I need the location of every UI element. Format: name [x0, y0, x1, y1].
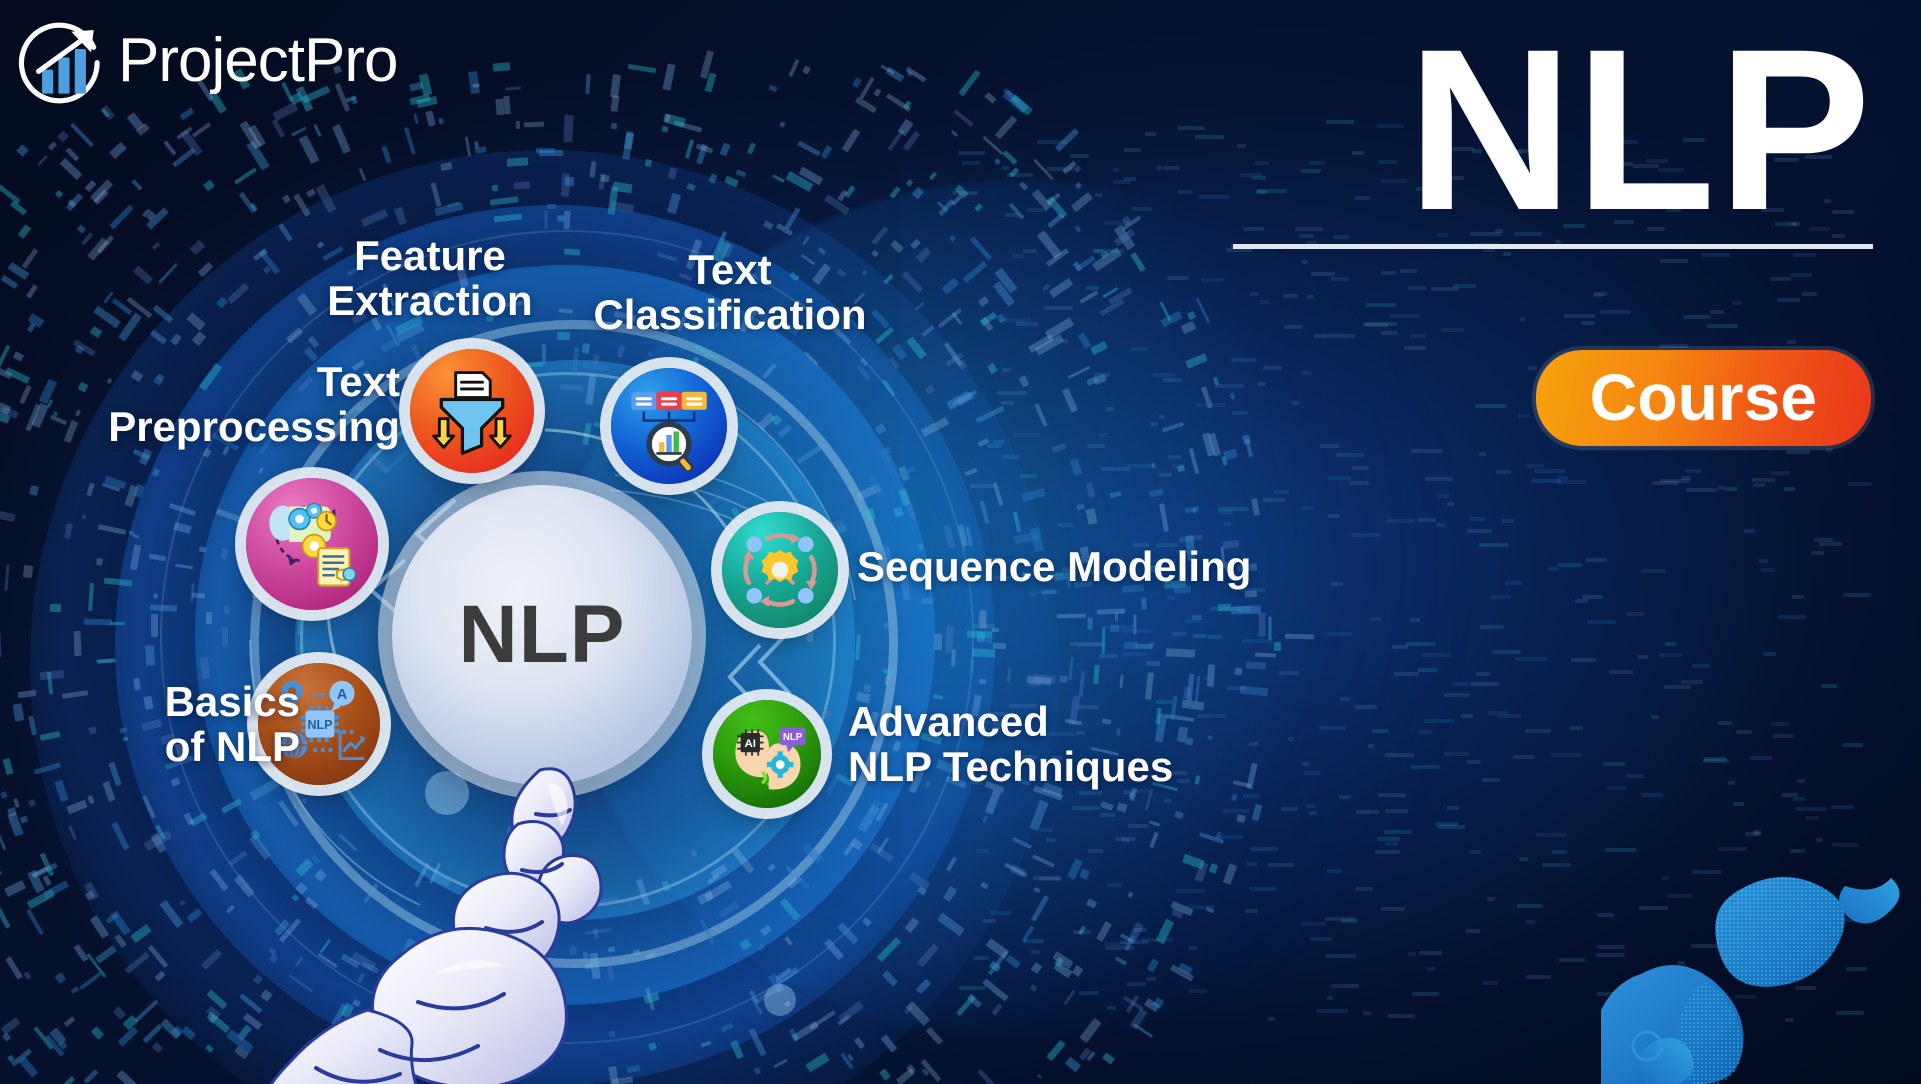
- course-badge-label: Course: [1590, 360, 1817, 436]
- nlp-hub-label: NLP: [459, 588, 626, 682]
- node-advanced-nlp-techniques[interactable]: AI: [713, 700, 821, 808]
- label-text-preprocessing: Text Preprocessing: [100, 360, 400, 450]
- page-title: NLP: [1233, 24, 1873, 236]
- label-text-classification: Text Classification: [560, 248, 900, 338]
- label-sequence-modeling: Sequence Modeling: [857, 545, 1357, 590]
- label-text-preprocessing-line1: Text: [100, 360, 400, 405]
- label-text-preprocessing-line2: Preprocessing: [100, 405, 400, 450]
- label-feature-extraction: Feature Extraction: [300, 234, 560, 324]
- gears-document-preprocessing-icon: [260, 492, 364, 596]
- label-basics-of-nlp: Basics of NLP: [60, 680, 300, 770]
- svg-text:AI: AI: [745, 738, 756, 750]
- brand-name: ProjectPro: [118, 30, 397, 92]
- svg-text:A: A: [337, 687, 348, 703]
- label-text-classification-line2: Classification: [560, 293, 900, 338]
- cards-magnifier-barchart-icon: [624, 381, 714, 471]
- nlp-hub[interactable]: NLP: [392, 485, 692, 785]
- svg-text:NLP: NLP: [307, 718, 332, 732]
- node-text-classification[interactable]: [611, 368, 727, 484]
- funnel-document-arrows-icon: [424, 363, 520, 459]
- label-basics-of-nlp-line1: Basics: [60, 680, 300, 725]
- title-block: NLP: [1233, 24, 1873, 249]
- label-sequence-modeling-line1: Sequence Modeling: [857, 545, 1357, 590]
- robot-hand-pointing-icon: [250, 760, 670, 1084]
- course-badge[interactable]: Course: [1536, 350, 1871, 446]
- poster-canvas: ProjectPro NLP Course NLP: [0, 0, 1921, 1084]
- label-feature-extraction-line1: Feature: [300, 234, 560, 279]
- label-text-classification-line1: Text: [560, 248, 900, 293]
- gear-cycle-nodes-icon: [734, 524, 826, 616]
- svg-text:NLP: NLP: [783, 732, 803, 743]
- chart-arrow-circle-icon: [18, 18, 104, 104]
- label-advanced-nlp-techniques: Advanced NLP Techniques: [848, 700, 1408, 790]
- brand-logo[interactable]: ProjectPro: [18, 18, 397, 104]
- node-feature-extraction[interactable]: [410, 349, 534, 473]
- label-advanced-nlp-line1: Advanced: [848, 700, 1408, 745]
- node-text-preprocessing[interactable]: [246, 478, 378, 610]
- organic-blob-decoration-icon: [1601, 854, 1921, 1084]
- node-sequence-modeling[interactable]: [722, 512, 838, 628]
- label-feature-extraction-line2: Extraction: [300, 279, 560, 324]
- label-advanced-nlp-line2: NLP Techniques: [848, 745, 1408, 790]
- two-heads-ai-nlp-icon: AI: [723, 710, 811, 798]
